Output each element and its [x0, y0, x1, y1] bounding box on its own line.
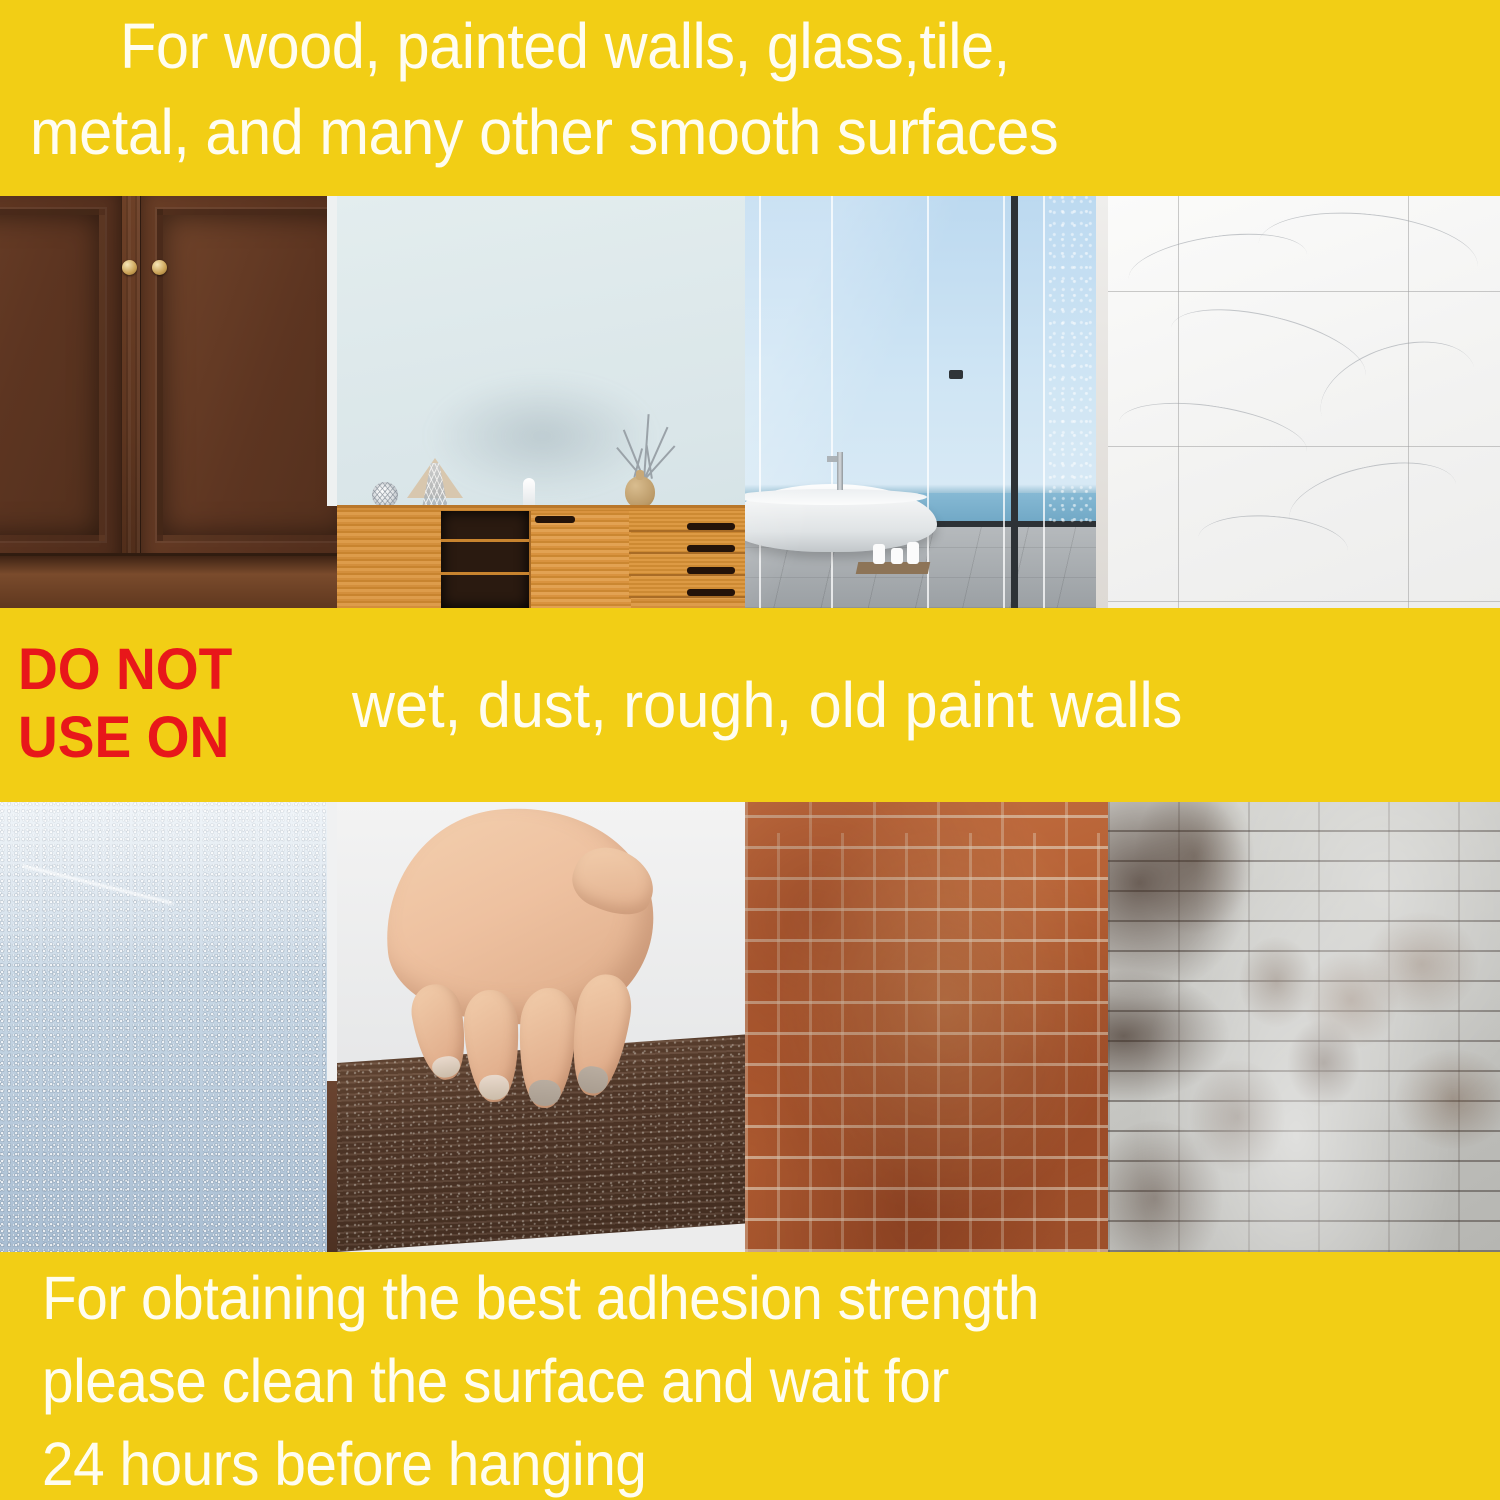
old-paint-brick-photo [1108, 802, 1500, 1252]
cabinet-knob-left [122, 260, 137, 275]
cabinet-door-left [0, 196, 122, 568]
rough-red-brick-photo [745, 802, 1108, 1252]
adjacent-wall-edge [327, 802, 337, 1081]
top-banner-line-2: metal, and many other smooth surfaces [30, 100, 1397, 164]
ceramic-vase [625, 476, 655, 508]
do-not-use-line-1: DO NOT [18, 636, 232, 704]
marble-tile-photo [1108, 196, 1500, 608]
do-not-use-line-2: USE ON [18, 704, 232, 772]
wet-highlight [0, 802, 337, 1252]
glass-bathroom-photo [745, 196, 1108, 608]
dusty-surface-hand-photo [337, 802, 745, 1252]
painted-wall-photo [337, 196, 745, 608]
glass-reflection [745, 196, 1108, 608]
small-figurine [523, 478, 535, 508]
bottom-instructions-banner: For obtaining the best adhesion strength… [0, 1252, 1500, 1500]
bottom-banner-line-3: 24 hours before hanging [42, 1434, 1398, 1495]
product-infographic: For wood, painted walls, glass,tile, met… [0, 0, 1500, 1500]
tile-grout-lines [1108, 196, 1500, 608]
cabinet-knob-right [152, 260, 167, 275]
bottom-banner-line-1: For obtaining the best adhesion strength [42, 1268, 1398, 1329]
bottom-banner-line-2: please clean the surface and wait for [42, 1351, 1398, 1412]
sideboard-open-shelf [441, 511, 529, 608]
wet-condensation-photo [0, 802, 337, 1252]
sideboard-drawer-stack [629, 511, 745, 608]
cabinet-door-right [140, 196, 337, 568]
do-not-use-banner: DO NOT USE ON wet, dust, rough, old pain… [0, 608, 1500, 802]
brick-highlight [745, 802, 1108, 1252]
top-banner: For wood, painted walls, glass,tile, met… [0, 0, 1500, 196]
good-surfaces-photo-strip [0, 196, 1500, 608]
cabinet-base-rail [0, 553, 337, 608]
sideboard-door [529, 511, 631, 608]
adjacent-wood-edge [327, 1081, 337, 1252]
wooden-sideboard [337, 505, 745, 608]
bad-surfaces-photo-strip [0, 802, 1500, 1252]
do-not-use-warning: DO NOT USE ON [18, 636, 232, 773]
top-banner-line-1: For wood, painted walls, glass,tile, [120, 14, 1403, 78]
whitewash-highlight [1108, 802, 1500, 1252]
wood-cabinet-photo [0, 196, 337, 608]
forbidden-surfaces-text: wet, dust, rough, old paint walls [352, 668, 1182, 742]
dry-branches [613, 400, 681, 480]
wall-edge [327, 196, 337, 506]
